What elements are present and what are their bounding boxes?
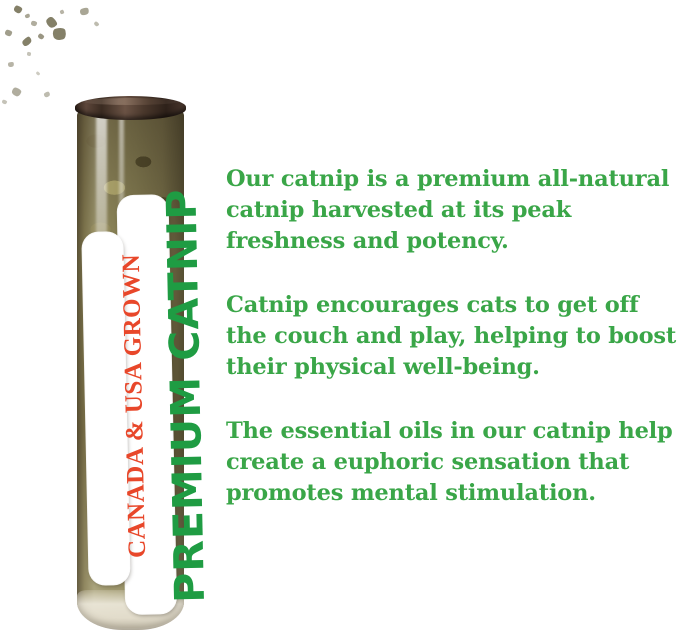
catnip-flake: [7, 61, 14, 68]
copy-paragraph-2: Catnip encourages cats to get off the co…: [226, 290, 678, 383]
catnip-flake: [4, 29, 12, 36]
catnip-flake: [11, 87, 22, 98]
catnip-flake: [21, 35, 33, 47]
marketing-copy-block: Our catnip is a premium all-natural catn…: [226, 164, 678, 509]
catnip-flake: [31, 21, 38, 27]
catnip-flake: [79, 7, 90, 17]
tube-cap: [75, 96, 186, 120]
catnip-flake: [37, 33, 45, 40]
product-label-sticker: PREMIUM CATNIP CANADA & USA GROWN: [78, 195, 183, 627]
copy-paragraph-3: The essential oils in our catnip help cr…: [226, 416, 678, 509]
catnip-flake: [2, 99, 8, 104]
catnip-flake: [93, 21, 99, 27]
copy-paragraph-1: Our catnip is a premium all-natural catn…: [226, 164, 678, 257]
catnip-flake: [52, 27, 68, 42]
catnip-tube-product-image: PREMIUM CATNIP CANADA & USA GROWN: [74, 96, 187, 630]
catnip-flake: [36, 71, 41, 76]
catnip-flake: [44, 15, 58, 29]
catnip-flake: [13, 5, 23, 14]
catnip-flake: [24, 13, 30, 19]
catnip-flake: [43, 91, 51, 99]
catnip-flake: [27, 52, 31, 56]
catnip-flake: [59, 9, 64, 14]
label-text-premium-catnip: PREMIUM CATNIP: [162, 202, 211, 603]
